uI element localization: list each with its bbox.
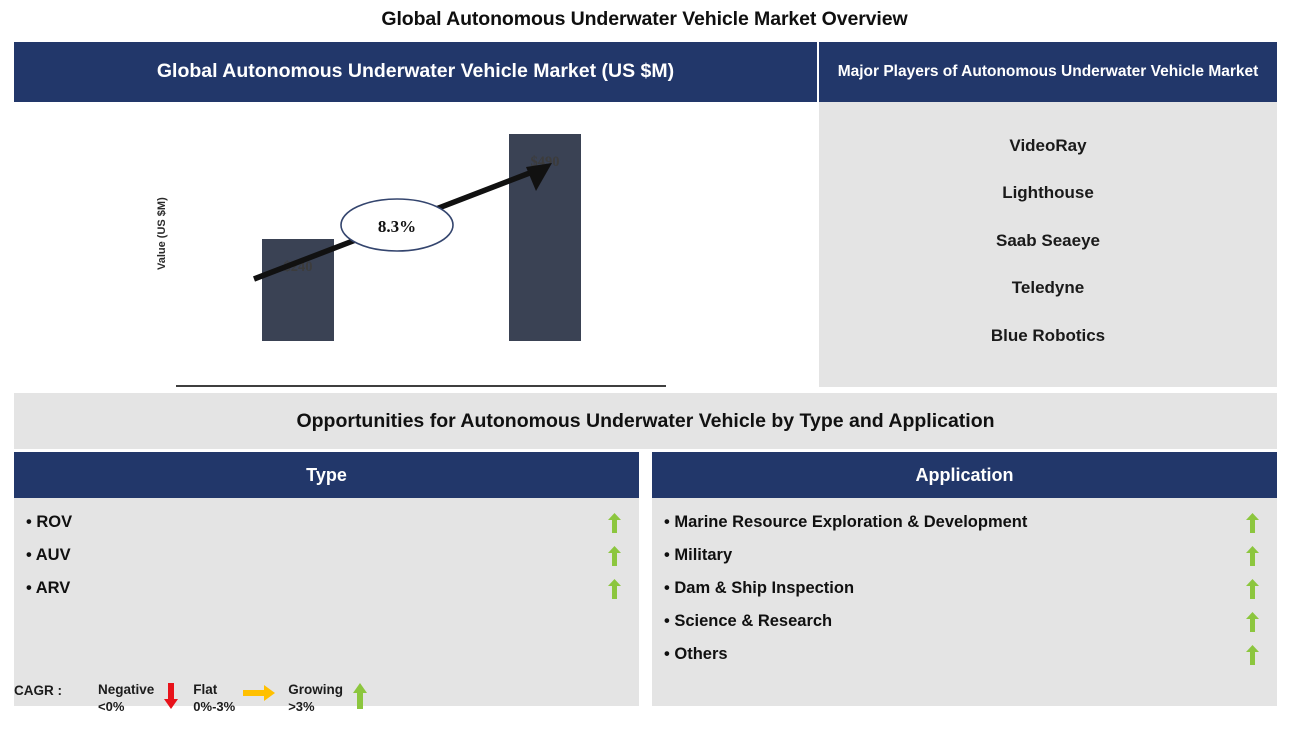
- cagr-legend: CAGR : Negative <0% Flat 0%-3% Growing >…: [14, 682, 382, 715]
- trend-up-icon: [603, 579, 625, 599]
- market-panel: Global Autonomous Underwater Vehicle Mar…: [14, 42, 817, 387]
- legend-entry-text: Growing >3%: [288, 682, 343, 715]
- opportunity-label: • Others: [664, 645, 728, 664]
- chart-y-axis-label: Value (US $M): [156, 160, 168, 270]
- bar-value-2035: $490: [500, 154, 590, 171]
- cagr-value: 8.3%: [378, 217, 416, 236]
- column-body-application: • Marine Resource Exploration & Developm…: [652, 498, 1277, 706]
- bar-2026: [262, 239, 334, 341]
- column-header-type: Type: [14, 452, 639, 498]
- list-item: • Others: [652, 638, 1277, 671]
- market-panel-header: Global Autonomous Underwater Vehicle Mar…: [14, 42, 817, 102]
- list-item: • ARV: [14, 572, 639, 605]
- top-row: Global Autonomous Underwater Vehicle Mar…: [14, 42, 1277, 387]
- legend-entry-growing: Growing >3%: [288, 682, 370, 715]
- page-title: Global Autonomous Underwater Vehicle Mar…: [0, 8, 1289, 31]
- chart-x-axis-line: [176, 385, 666, 387]
- players-panel-body: VideoRay Lighthouse Saab Seaeye Teledyne…: [819, 102, 1277, 387]
- players-panel-header: Major Players of Autonomous Underwater V…: [819, 42, 1277, 102]
- opportunity-label: • Dam & Ship Inspection: [664, 579, 854, 598]
- arrow-down-icon: [161, 682, 181, 709]
- trend-up-icon: [1241, 579, 1263, 599]
- list-item: • Science & Research: [652, 605, 1277, 638]
- bar-value-2026: $240: [253, 259, 343, 276]
- trend-up-icon: [603, 546, 625, 566]
- opportunities-column-type: Type • ROV • AUV • ARV: [14, 452, 639, 706]
- list-item: Teledyne: [819, 278, 1277, 298]
- legend-entry-name: Flat: [193, 682, 235, 699]
- list-item: Blue Robotics: [819, 326, 1277, 346]
- opportunity-label: • ARV: [26, 579, 70, 598]
- trend-up-icon: [1241, 513, 1263, 533]
- legend-entry-text: Negative <0%: [98, 682, 154, 715]
- list-item: • Dam & Ship Inspection: [652, 572, 1277, 605]
- legend-entry-range: >3%: [288, 699, 343, 715]
- legend-entry-range: <0%: [98, 699, 154, 715]
- legend-entry-name: Growing: [288, 682, 343, 699]
- cagr-legend-label: CAGR :: [14, 682, 62, 698]
- trend-up-icon: [1241, 546, 1263, 566]
- legend-entry-name: Negative: [98, 682, 154, 699]
- legend-entry-flat: Flat 0%-3%: [193, 682, 276, 715]
- column-body-type: • ROV • AUV • ARV: [14, 498, 639, 706]
- list-item: • ROV: [14, 506, 639, 539]
- market-panel-body: Value (US $M) $240 $490 2026 2035 8.3% S…: [14, 102, 817, 387]
- opportunities-section: Opportunities for Autonomous Underwater …: [14, 393, 1277, 706]
- list-item: Lighthouse: [819, 183, 1277, 203]
- column-header-application: Application: [652, 452, 1277, 498]
- opportunity-label: • Military: [664, 546, 732, 565]
- opportunities-columns: Type • ROV • AUV • ARV: [14, 452, 1277, 706]
- list-item: • Marine Resource Exploration & Developm…: [652, 506, 1277, 539]
- cagr-ellipse: [341, 199, 453, 251]
- players-list: VideoRay Lighthouse Saab Seaeye Teledyne…: [819, 102, 1277, 387]
- opportunity-label: • AUV: [26, 546, 71, 565]
- list-item: Saab Seaeye: [819, 231, 1277, 251]
- opportunities-column-application: Application • Marine Resource Exploratio…: [652, 452, 1277, 706]
- opportunity-label: • Marine Resource Exploration & Developm…: [664, 513, 1027, 532]
- list-item: • Military: [652, 539, 1277, 572]
- legend-entry-range: 0%-3%: [193, 699, 235, 715]
- trend-up-icon: [1241, 612, 1263, 632]
- list-item: • AUV: [14, 539, 639, 572]
- market-bar-chart: Value (US $M) $240 $490 2026 2035 8.3%: [14, 102, 817, 387]
- opportunities-title: Opportunities for Autonomous Underwater …: [14, 393, 1277, 449]
- list-item: VideoRay: [819, 136, 1277, 156]
- arrow-right-icon: [242, 682, 276, 701]
- trend-up-icon: [1241, 645, 1263, 665]
- legend-entry-text: Flat 0%-3%: [193, 682, 235, 715]
- players-panel: Major Players of Autonomous Underwater V…: [819, 42, 1277, 387]
- legend-entry-negative: Negative <0%: [98, 682, 181, 715]
- trend-up-icon: [603, 513, 625, 533]
- opportunity-label: • ROV: [26, 513, 72, 532]
- arrow-up-icon: [350, 682, 370, 709]
- opportunity-label: • Science & Research: [664, 612, 832, 631]
